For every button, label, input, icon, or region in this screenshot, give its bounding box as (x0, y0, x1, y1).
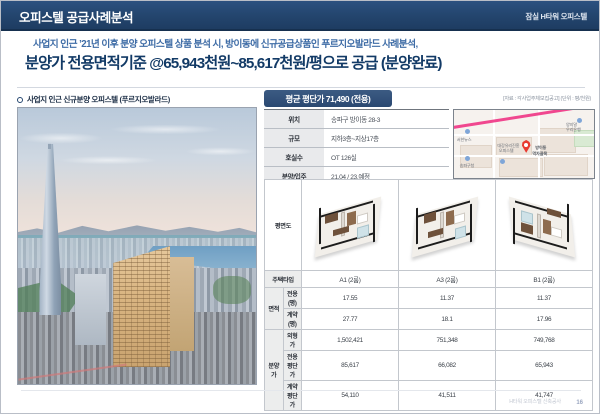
photo-subject-building (113, 246, 170, 367)
map-road (538, 110, 540, 178)
floorplan-cell-a1 (302, 180, 399, 271)
table-row: 호실수 OT 126실 (264, 148, 449, 167)
info-value-scale: 지하3층~지상17층 (324, 129, 449, 148)
floorplan-cell-a3 (399, 180, 496, 271)
table-row-floorplans: 평면도 (265, 180, 593, 271)
average-unit-price-text: 평균 평단가 71,490 (전용) (286, 93, 371, 105)
bullet-icon (17, 97, 23, 103)
cell-type-a3: A3 (2룸) (399, 271, 496, 288)
cell-price-total-a3: 751,348 (399, 330, 496, 351)
map-label: 오피스텔 (499, 148, 514, 154)
floorplan-isometric-icon (505, 194, 583, 256)
table-row-area-contract: 계약(평) 27.77 18.1 17.96 (265, 309, 593, 330)
photo-white-building (75, 274, 106, 346)
map-label: 송파구청 (460, 163, 475, 169)
cell-area-contract-a3: 18.1 (399, 309, 496, 330)
location-map[interactable]: 서한뉴스 대강유리진흥 오피스텔 송파구청 양지말 우리은행 방이동 먹자골목 (453, 109, 595, 179)
page-number: 16 (576, 400, 583, 406)
table-row: 규모 지하3층~지상17층 (264, 129, 449, 148)
subtitle-line-2: 분양가 전용면적기준 @65,943천원~85,617천원/평으로 공급 (분양… (25, 51, 585, 73)
info-key-scale: 규모 (264, 129, 324, 148)
cell-price-unit-contract-a1: 54,110 (302, 381, 399, 411)
map-road (454, 155, 594, 157)
cell-price-total-b1: 749,768 (496, 330, 593, 351)
divider (17, 87, 585, 88)
cell-price-unit-exclusive-a1: 85,617 (302, 351, 399, 381)
table-row-area-exclusive: 면적 전용(평) 17.55 11.37 11.37 (265, 288, 593, 309)
average-unit-price-badge: 평균 평단가 71,490 (전용) (264, 90, 392, 107)
row-label-price-total: 외형가 (283, 330, 302, 351)
site-aerial-photo (17, 107, 257, 385)
row-label-price-unit-exclusive: 전용평단가 (283, 351, 302, 381)
cell-price-unit-contract-b1: 41,747 (496, 381, 593, 411)
left-section-label: 사업지 인근 신규분양 오피스텔 (푸르지오발라드) (17, 94, 170, 105)
floorplan-isometric-icon (311, 194, 389, 256)
row-label-area-exclusive: 전용(평) (283, 288, 302, 309)
row-group-label-area: 면적 (265, 288, 284, 330)
cell-type-b1: B1 (2룸) (496, 271, 593, 288)
project-name-label: 잠실 H타워 오피스텔 (526, 11, 587, 22)
subtitle-block: 사업지 인근 ’21년 이후 분양 오피스텔 상품 분석 시, 방이동에 신규공… (1, 31, 600, 87)
table-row-price-unit-exclusive: 전용평단가 85,617 66,082 65,943 (265, 351, 593, 381)
row-label-area-contract: 계약(평) (283, 309, 302, 330)
slide-header: 오피스텔 공급사례분석 잠실 H타워 오피스텔 (1, 1, 600, 31)
cell-price-total-a1: 1,502,421 (302, 330, 399, 351)
page-title: 오피스텔 공급사례분석 (19, 7, 133, 26)
slide-root: 오피스텔 공급사례분석 잠실 H타워 오피스텔 사업지 인근 ’21년 이후 분… (0, 0, 600, 414)
map-road (454, 134, 594, 136)
property-info-table: 위치 송파구 방이동 28-3 규모 지하3층~지상17층 호실수 OT 126… (264, 109, 449, 186)
photo-park-right (213, 276, 251, 304)
row-label-type: 주택타입 (265, 271, 302, 288)
table-row-price-unit-contract: 계약평단가 54,110 41,511 41,747 (265, 381, 593, 411)
cell-price-unit-exclusive-b1: 65,943 (496, 351, 593, 381)
cell-area-exclusive-a3: 11.37 (399, 288, 496, 309)
table-row-price-total: 분양가 외형가 1,502,421 751,348 749,768 (265, 330, 593, 351)
info-key-location: 위치 (264, 110, 324, 129)
cell-area-exclusive-b1: 11.37 (496, 288, 593, 309)
cell-price-unit-exclusive-a3: 66,082 (399, 351, 496, 381)
row-label-floorplan: 평면도 (265, 180, 302, 271)
table-row-type: 주택타입 A1 (2룸) A3 (2룸) B1 (2룸) (265, 271, 593, 288)
map-pin-label: 먹자골목 (532, 151, 547, 157)
map-label: 서한뉴스 (457, 137, 472, 143)
row-label-price-unit-contract: 계약평단가 (283, 381, 302, 411)
footer-note: H타워 오피스텔 신축공사 (509, 398, 561, 405)
subtitle-line-1: 사업지 인근 ’21년 이후 분양 오피스텔 상품 분석 시, 방이동에 신규공… (33, 36, 578, 50)
source-note: [자료 : 각사업주체모집공고] (단위 : 평/천원) (503, 94, 591, 102)
cell-type-a1: A1 (2룸) (302, 271, 399, 288)
map-label: 우리은행 (566, 127, 581, 133)
cell-area-exclusive-a1: 17.55 (302, 288, 399, 309)
floorplan-cell-b1 (496, 180, 593, 271)
floorplan-isometric-icon (408, 194, 486, 256)
info-key-units: 호실수 (264, 148, 324, 167)
info-value-location: 송파구 방이동 28-3 (324, 110, 449, 129)
info-value-units: OT 126실 (324, 148, 449, 167)
cell-price-unit-contract-a3: 41,511 (399, 381, 496, 411)
table-row: 위치 송파구 방이동 28-3 (264, 110, 449, 129)
row-group-label-price: 분양가 (265, 330, 284, 411)
unit-comparison-table: 평면도 (264, 179, 593, 411)
left-section-label-text: 사업지 인근 신규분양 오피스텔 (푸르지오발라드) (27, 95, 170, 104)
cell-area-contract-a1: 27.77 (302, 309, 399, 330)
cell-area-contract-b1: 17.96 (496, 309, 593, 330)
footer-divider (21, 390, 581, 391)
map-block (499, 158, 543, 178)
